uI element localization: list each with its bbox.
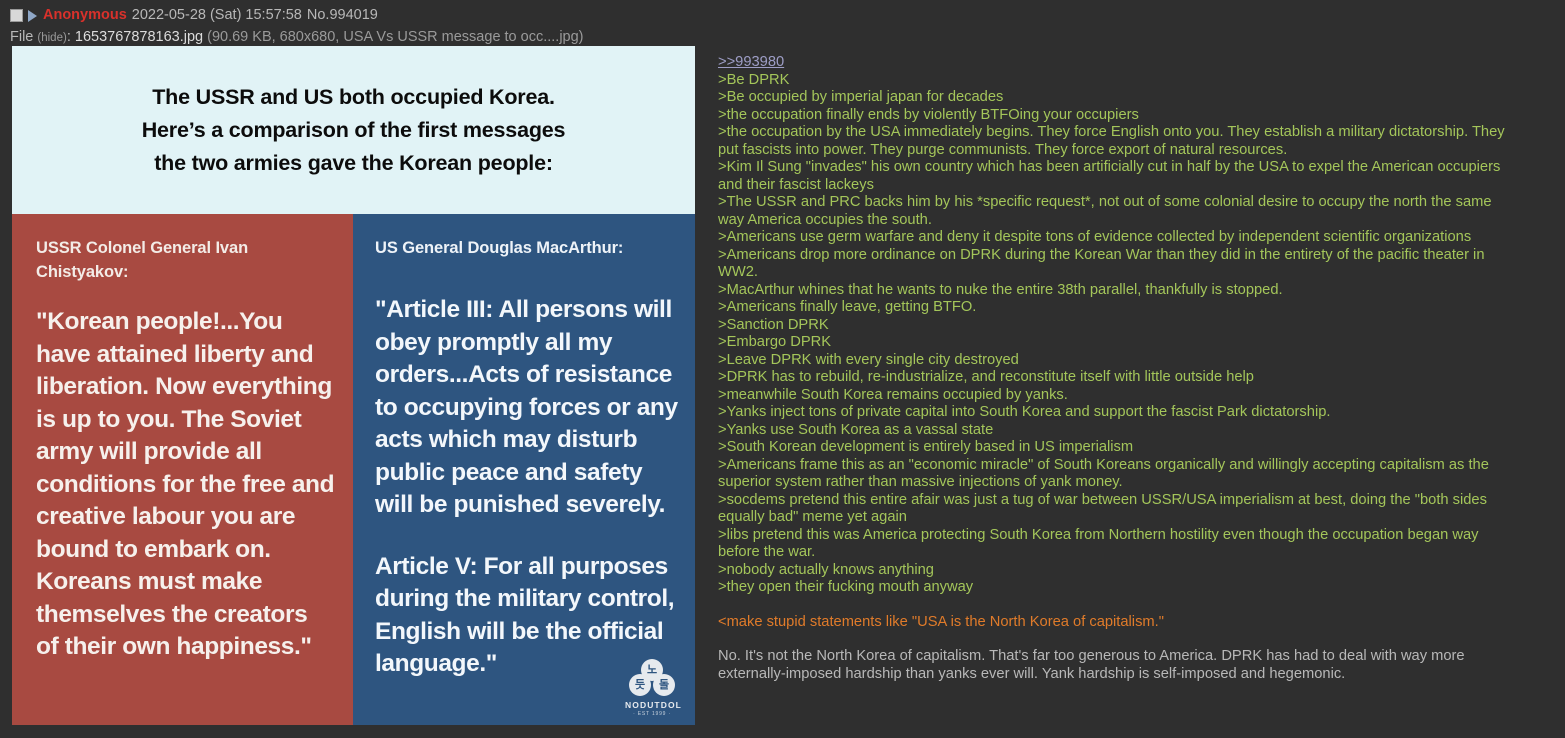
file-info-row: File (hide): 1653767878163.jpg (90.69 KB…: [10, 28, 1565, 48]
file-hide-link[interactable]: (hide): [37, 32, 66, 44]
greentext-line: >Americans finally leave, getting BTFO.: [718, 299, 1518, 317]
greentext-line: >Sanction DPRK: [718, 317, 1518, 335]
comment-spacer: [718, 597, 1518, 614]
file-label: File: [10, 29, 33, 45]
image-header-line-2: Here’s a comparison of the first message…: [142, 114, 566, 147]
nodutdol-est: · EST 1999 ·: [625, 711, 679, 717]
greentext-line: >Americans drop more ordinance on DPRK d…: [718, 247, 1518, 282]
image-header-line-3: the two armies gave the Korean people:: [154, 147, 553, 180]
greentext-line: >socdems pretend this entire afair was j…: [718, 492, 1518, 527]
quote-link[interactable]: >>993980: [718, 54, 1518, 72]
file-details: (90.69 KB, 680x680, USA Vs USSR message …: [207, 29, 583, 45]
greentext-line: >Be occupied by imperial japan for decad…: [718, 89, 1518, 107]
image-header-panel: The USSR and US both occupied Korea. Her…: [12, 46, 695, 214]
greentext-line: >the occupation finally ends by violentl…: [718, 107, 1518, 125]
thread-post: Anonymous 2022-05-28 (Sat) 15:57:58 No.9…: [0, 0, 1565, 738]
expand-triangle-icon[interactable]: [28, 10, 37, 22]
post-datetime: 2022-05-28 (Sat) 15:57:58: [132, 6, 302, 25]
nodutdol-wordmark: NODUTDOL: [625, 700, 679, 710]
nodutdol-logo-marks: 노 듯 돌: [625, 659, 679, 699]
greentext-line: >Be DPRK: [718, 72, 1518, 90]
post-header: Anonymous 2022-05-28 (Sat) 15:57:58 No.9…: [0, 0, 1565, 48]
ussr-quote: "Korean people!...You have attained libe…: [36, 306, 335, 664]
greentext-line: >the occupation by the USA immediately b…: [718, 124, 1518, 159]
nodutdol-glyph-2: 듯: [629, 674, 651, 696]
greentext-line: >MacArthur whines that he wants to nuke …: [718, 282, 1518, 300]
greentext-line: >Embargo DPRK: [718, 334, 1518, 352]
greentext-line: >Americans use germ warfare and deny it …: [718, 229, 1518, 247]
post-image[interactable]: The USSR and US both occupied Korea. Her…: [12, 46, 695, 725]
greentext-line: >Yanks inject tons of private capital in…: [718, 404, 1518, 422]
post-checkbox[interactable]: [10, 9, 23, 22]
post-number[interactable]: No.994019: [307, 6, 378, 25]
ussr-panel: USSR Colonel General Ivan Chistyakov: "K…: [12, 214, 353, 725]
us-quote-article-3: "Article III: All persons will obey prom…: [375, 294, 683, 522]
greentext-line: >The USSR and PRC backs him by his *spec…: [718, 194, 1518, 229]
greentext-line: >Kim Il Sung "invades" his own country w…: [718, 159, 1518, 194]
greentext-line: >South Korean development is entirely ba…: [718, 439, 1518, 457]
greentext-line: >meanwhile South Korea remains occupied …: [718, 387, 1518, 405]
greentext-line: >Americans frame this as an "economic mi…: [718, 457, 1518, 492]
greentext-line: >Leave DPRK with every single city destr…: [718, 352, 1518, 370]
greentext-line: >Yanks use South Korea as a vassal state: [718, 422, 1518, 440]
image-header-line-1: The USSR and US both occupied Korea.: [152, 81, 555, 114]
file-name-link[interactable]: 1653767878163.jpg: [75, 29, 203, 45]
image-comparison-row: USSR Colonel General Ivan Chistyakov: "K…: [12, 214, 695, 725]
greentext-line: >they open their fucking mouth anyway: [718, 579, 1518, 597]
ussr-speaker: USSR Colonel General Ivan Chistyakov:: [36, 236, 335, 284]
us-quote: "Article III: All persons will obey prom…: [375, 294, 683, 681]
greentext-line: >DPRK has to rebuild, re-industrialize, …: [718, 369, 1518, 387]
orangetext-line: <make stupid statements like "USA is the…: [718, 614, 1518, 632]
comment-closing-paragraph: No. It's not the North Korea of capitali…: [718, 648, 1518, 683]
us-speaker: US General Douglas MacArthur:: [375, 236, 683, 260]
nodutdol-glyph-3: 돌: [653, 674, 675, 696]
greentext-block: >Be DPRK>Be occupied by imperial japan f…: [718, 72, 1518, 597]
greentext-line: >libs pretend this was America protectin…: [718, 527, 1518, 562]
post-comment-body: >>993980 >Be DPRK>Be occupied by imperia…: [718, 54, 1518, 683]
comment-spacer-2: [718, 631, 1518, 648]
greentext-line: >nobody actually knows anything: [718, 562, 1518, 580]
us-panel: US General Douglas MacArthur: "Article I…: [353, 214, 695, 725]
nodutdol-logo: 노 듯 돌 NODUTDOL · EST 1999 ·: [625, 659, 679, 715]
post-author: Anonymous: [43, 6, 127, 25]
post-header-line: Anonymous 2022-05-28 (Sat) 15:57:58 No.9…: [10, 6, 1565, 25]
